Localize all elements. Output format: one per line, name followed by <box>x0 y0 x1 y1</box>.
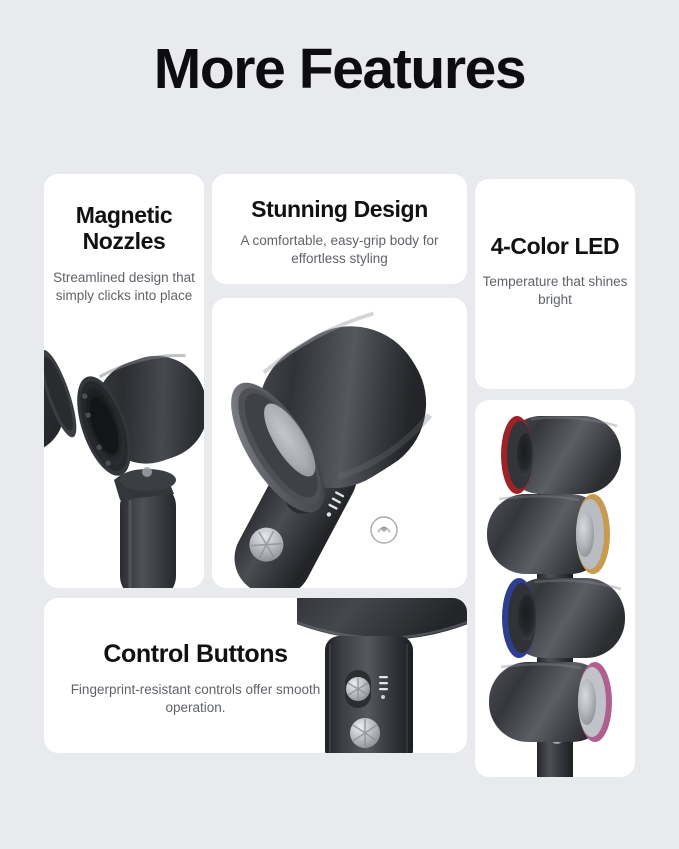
card-body-four-color-led: Temperature that shines bright <box>475 273 635 309</box>
led-head-red <box>501 416 621 494</box>
product-photo-handle-controls <box>297 598 467 753</box>
product-photo-hero <box>212 298 467 588</box>
feature-card-four-color-led: 4-Color LED Temperature that shines brig… <box>475 179 635 389</box>
feature-card-magnetic-nozzles: Magnetic Nozzles Streamlined design that… <box>44 174 204 588</box>
card-title-four-color-led: 4-Color LED <box>475 233 635 259</box>
feature-card-stunning-design: Stunning Design A comfortable, easy-grip… <box>212 174 467 284</box>
card-body-magnetic-nozzles: Streamlined design that simply clicks in… <box>44 269 204 305</box>
led-head-blue <box>502 578 625 658</box>
page-title: More Features <box>0 38 679 101</box>
led-head-magenta <box>489 662 612 742</box>
card-title-magnetic-nozzles: Magnetic Nozzles <box>44 202 204 255</box>
feature-card-control-buttons: Control Buttons Fingerprint-resistant co… <box>44 598 467 753</box>
product-photo-nozzle-detaching <box>44 304 204 588</box>
product-photo-led-color-stack <box>475 400 635 777</box>
card-body-stunning-design: A comfortable, easy-grip body for effort… <box>212 232 467 268</box>
led-head-gold <box>487 494 610 574</box>
card-title-stunning-design: Stunning Design <box>212 196 467 222</box>
